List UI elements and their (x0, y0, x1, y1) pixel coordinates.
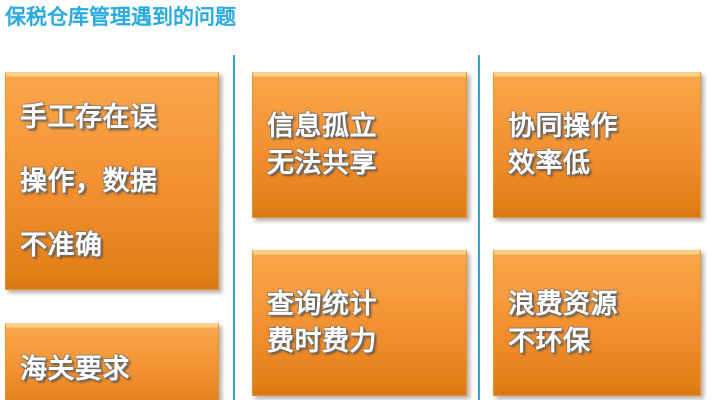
column-divider-right (478, 55, 480, 400)
problem-box-customs-requirements[interactable]: 海关要求 (5, 323, 219, 400)
problem-box-line: 效率低 (508, 145, 694, 182)
problem-box-manual-errors[interactable]: 手工存在误 操作，数据 不准确 (5, 72, 219, 290)
problem-box-resource-waste[interactable]: 浪费资源 不环保 (493, 250, 701, 396)
problem-box-collaboration-efficiency[interactable]: 协同操作 效率低 (493, 72, 701, 218)
problem-box-line: 无法共享 (267, 145, 460, 182)
problem-box-information-isolation[interactable]: 信息孤立 无法共享 (252, 72, 467, 218)
problem-box-line: 不环保 (508, 323, 694, 360)
problem-box-line: 浪费资源 (508, 286, 694, 323)
problem-box-line: 费时费力 (267, 323, 460, 360)
problem-box-line: 操作，数据 (20, 149, 212, 213)
slide-canvas: 保税仓库管理遇到的问题 手工存在误 操作，数据 不准确 海关要求 信息孤立 无法… (0, 0, 712, 400)
problem-box-line: 信息孤立 (267, 108, 460, 145)
problem-box-line: 协同操作 (508, 108, 694, 145)
column-divider-left (233, 55, 235, 400)
problem-box-line: 不准确 (20, 213, 212, 277)
problem-box-line: 海关要求 (20, 344, 212, 394)
problem-box-line: 查询统计 (267, 286, 460, 323)
page-title: 保税仓库管理遇到的问题 (5, 4, 236, 32)
problem-box-line: 手工存在误 (20, 85, 212, 149)
problem-box-query-statistics[interactable]: 查询统计 费时费力 (252, 250, 467, 396)
